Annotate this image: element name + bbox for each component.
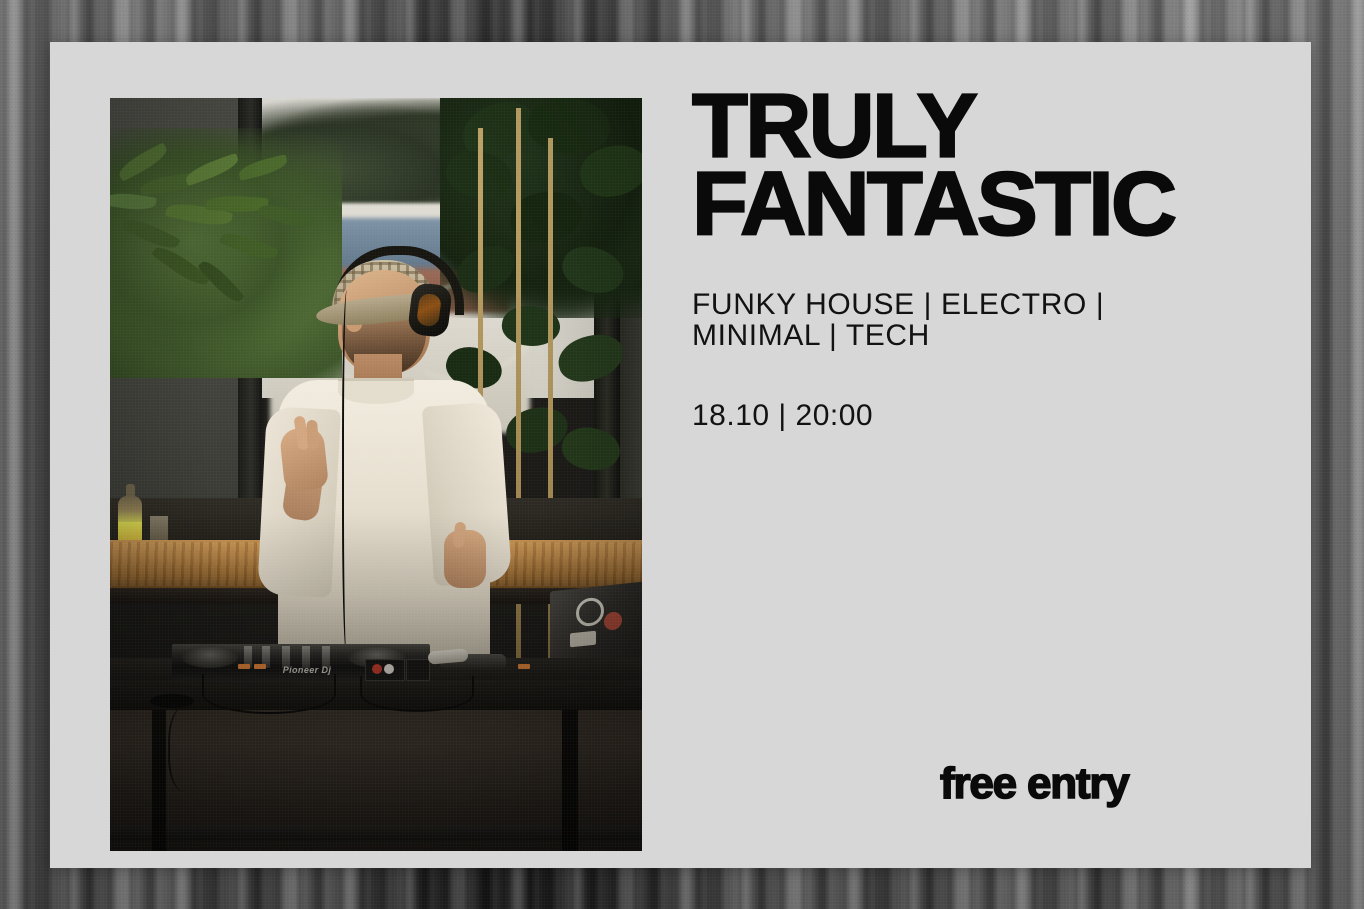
genre-list: FUNKY HOUSE | ELECTRO | MINIMAL | TECH xyxy=(692,290,1212,351)
date-time-line: 18.10 | 20:00 xyxy=(692,399,873,433)
poster-title: TRULY FANTASTIC xyxy=(692,86,1292,243)
dj-photo: Pioneer Dj xyxy=(110,98,642,851)
poster-text-column: TRULY FANTASTIC FUNKY HOUSE | ELECTRO | … xyxy=(690,42,1290,868)
photo-film-grain xyxy=(110,98,642,851)
title-line-2: FANTASTIC xyxy=(692,164,1316,244)
poster-card: Pioneer Dj TRULY FANTASTIC FUNKY HOUSE |… xyxy=(50,42,1311,868)
free-entry-badge: free entry xyxy=(940,759,1129,809)
